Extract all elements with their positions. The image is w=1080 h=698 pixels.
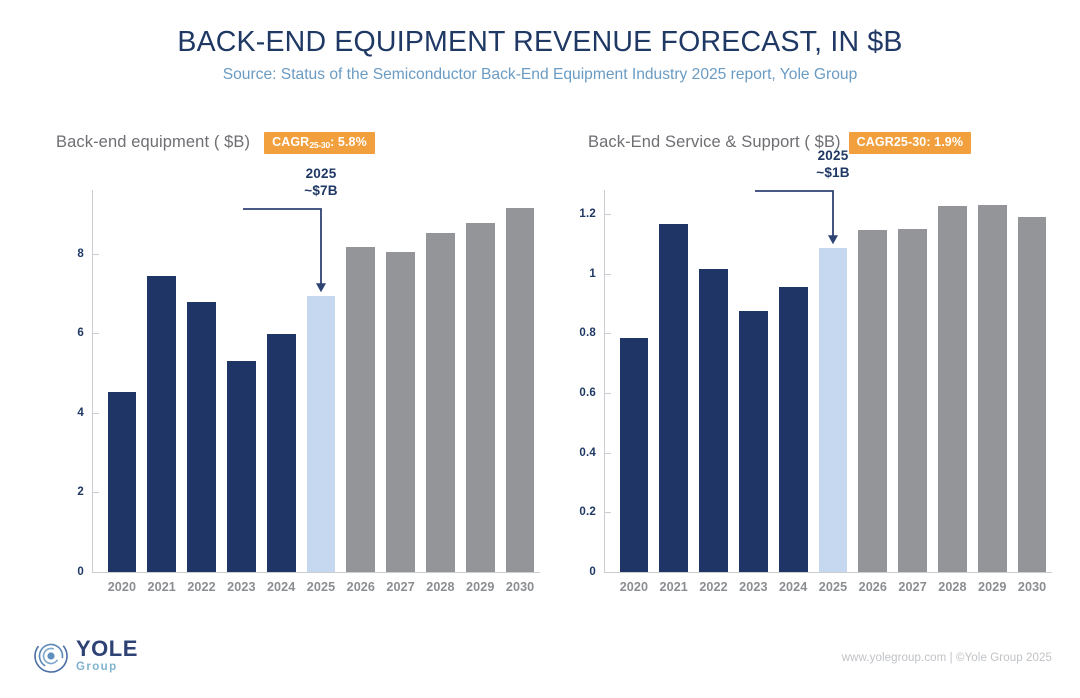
x-axis-label-2020: 2020	[102, 580, 142, 594]
bar-2021[interactable]	[147, 276, 176, 572]
y-axis-tick-mark	[93, 333, 99, 334]
y-axis-tick-mark	[93, 492, 99, 493]
x-axis-label-2027: 2027	[893, 580, 933, 594]
bar-2030[interactable]	[506, 208, 535, 572]
x-axis-label-2028: 2028	[421, 580, 461, 594]
y-axis-tick-label: 0.8	[558, 327, 596, 339]
slide-root: BACK-END EQUIPMENT REVENUE FORECAST, IN …	[0, 0, 1080, 698]
y-axis-tick-label: 0.6	[558, 387, 596, 399]
y-axis-tick-mark	[605, 214, 611, 215]
bar-2025[interactable]	[307, 296, 336, 572]
y-axis-tick-mark	[93, 413, 99, 414]
yole-logo-text: YOLE Group	[76, 638, 138, 674]
bar-2026[interactable]	[858, 230, 887, 572]
bar-2027[interactable]	[386, 252, 415, 572]
y-axis-line	[92, 190, 93, 572]
callout-arrow-icon	[755, 190, 855, 248]
callout-line-2: ~$7B	[261, 183, 381, 200]
x-axis-label-2026: 2026	[853, 580, 893, 594]
x-axis-label-2023: 2023	[221, 580, 261, 594]
y-axis-tick-mark	[605, 453, 611, 454]
yole-logo: YOLE Group	[34, 638, 138, 674]
y-axis-tick-mark	[93, 254, 99, 255]
bar-2025[interactable]	[819, 248, 848, 572]
yole-logo-secondary: Group	[76, 662, 138, 674]
callout-label-2025: 2025~$1B	[773, 148, 893, 182]
y-axis-tick-label: 1	[558, 268, 596, 280]
x-axis-line	[604, 572, 1052, 573]
callout-line-2: ~$1B	[773, 165, 893, 182]
x-axis-label-2024: 2024	[261, 580, 301, 594]
bar-2028[interactable]	[938, 206, 967, 572]
y-axis-tick-label: 0.4	[558, 447, 596, 459]
bar-2029[interactable]	[466, 223, 495, 572]
callout-label-2025: 2025~$7B	[261, 166, 381, 200]
bar-2024[interactable]	[267, 334, 296, 572]
yole-spiral-icon	[34, 639, 68, 673]
plot-area-left: 0246820202021202220232024202520262027202…	[40, 118, 550, 618]
bar-2029[interactable]	[978, 205, 1007, 572]
y-axis-tick-label: 0	[558, 566, 596, 578]
y-axis-tick-label: 2	[46, 486, 84, 498]
x-axis-label-2029: 2029	[972, 580, 1012, 594]
callout-line-1: 2025	[773, 148, 893, 165]
bar-2022[interactable]	[699, 269, 728, 572]
bar-2023[interactable]	[227, 361, 256, 572]
y-axis-tick-label: 6	[46, 327, 84, 339]
x-axis-line	[92, 572, 540, 573]
y-axis-tick-label: 4	[46, 407, 84, 419]
y-axis-tick-label: 8	[46, 248, 84, 260]
bar-2020[interactable]	[108, 392, 137, 572]
y-axis-tick-mark	[605, 393, 611, 394]
x-axis-label-2025: 2025	[813, 580, 853, 594]
x-axis-label-2026: 2026	[341, 580, 381, 594]
y-axis-tick-label: 0	[46, 566, 84, 578]
x-axis-label-2021: 2021	[142, 580, 182, 594]
x-axis-label-2021: 2021	[654, 580, 694, 594]
x-axis-label-2020: 2020	[614, 580, 654, 594]
plot-area-right: 00.20.40.60.811.220202021202220232024202…	[560, 118, 1060, 618]
bar-2021[interactable]	[659, 224, 688, 572]
x-axis-label-2030: 2030	[500, 580, 540, 594]
x-axis-label-2029: 2029	[460, 580, 500, 594]
bar-2020[interactable]	[620, 338, 649, 572]
slide-header: BACK-END EQUIPMENT REVENUE FORECAST, IN …	[0, 26, 1080, 84]
bar-2026[interactable]	[346, 247, 375, 572]
x-axis-label-2030: 2030	[1012, 580, 1052, 594]
bar-2027[interactable]	[898, 229, 927, 572]
bar-2030[interactable]	[1018, 217, 1047, 572]
callout-line-1: 2025	[261, 166, 381, 183]
bar-2022[interactable]	[187, 302, 216, 572]
bar-2023[interactable]	[739, 311, 768, 572]
y-axis-tick-mark	[605, 274, 611, 275]
x-axis-label-2023: 2023	[733, 580, 773, 594]
chart-panel-back-end-service-support: Back-End Service & Support ( $B) CAGR25-…	[560, 118, 1060, 618]
x-axis-label-2025: 2025	[301, 580, 341, 594]
x-axis-label-2028: 2028	[933, 580, 973, 594]
yole-logo-primary: YOLE	[76, 638, 138, 660]
y-axis-tick-mark	[605, 333, 611, 334]
page-subtitle: Source: Status of the Semiconductor Back…	[0, 66, 1080, 85]
bar-2024[interactable]	[779, 287, 808, 572]
x-axis-label-2027: 2027	[381, 580, 421, 594]
x-axis-label-2022: 2022	[182, 580, 222, 594]
y-axis-line	[604, 190, 605, 572]
page-title: BACK-END EQUIPMENT REVENUE FORECAST, IN …	[0, 26, 1080, 59]
y-axis-tick-label: 0.2	[558, 506, 596, 518]
callout-arrow-icon	[243, 208, 343, 296]
chart-panel-back-end-equipment: Back-end equipment ( $B) CAGR25-30: 5.8%…	[40, 118, 550, 618]
y-axis-tick-mark	[605, 512, 611, 513]
bar-2028[interactable]	[426, 233, 455, 572]
x-axis-label-2022: 2022	[694, 580, 734, 594]
footer-copyright: www.yolegroup.com | ©Yole Group 2025	[842, 652, 1052, 664]
x-axis-label-2024: 2024	[773, 580, 813, 594]
y-axis-tick-label: 1.2	[558, 208, 596, 220]
